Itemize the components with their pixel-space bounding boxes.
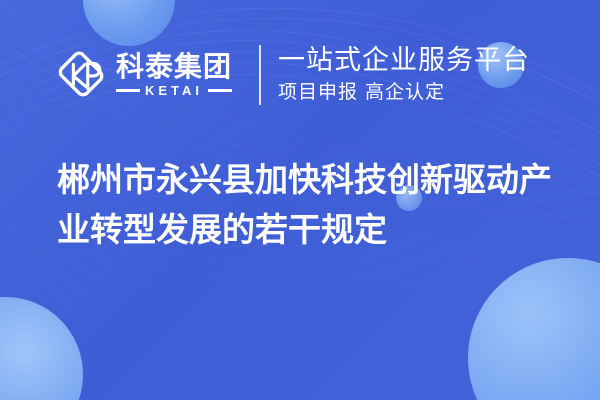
promo-banner: 科泰集团 KETAI 一站式企业服务平台 项目申报 高企认定 郴州市永兴县加快科… xyxy=(0,0,600,400)
ketai-monogram-icon xyxy=(58,51,106,99)
banner-header: 科泰集团 KETAI 一站式企业服务平台 项目申报 高企认定 xyxy=(0,38,600,112)
tagline-block: 一站式企业服务平台 项目申报 高企认定 xyxy=(278,46,530,103)
brand-name-en: KETAI xyxy=(145,84,203,97)
page-title: 郴州市永兴县加快科技创新驱动产业转型发展的若干规定 xyxy=(57,155,557,255)
tagline-sub: 项目申报 高企认定 xyxy=(278,82,530,104)
wordmark-rule-right xyxy=(208,89,232,92)
tagline-main: 一站式企业服务平台 xyxy=(278,46,530,76)
wordmark-rule-left xyxy=(116,89,140,92)
brand-wordmark: 科泰集团 KETAI xyxy=(116,53,232,97)
header-divider xyxy=(259,45,261,105)
brand-name-en-row: KETAI xyxy=(116,84,232,97)
brand-logo[interactable]: 科泰集团 KETAI xyxy=(58,51,232,99)
brand-name-cn: 科泰集团 xyxy=(116,53,232,81)
